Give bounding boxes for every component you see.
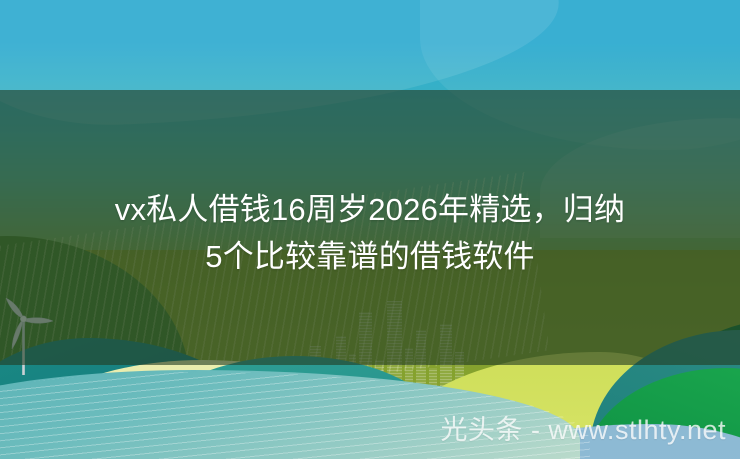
article-banner-image: vx私人借钱16周岁2026年精选，归纳 5个比较靠谱的借钱软件 光头条 - w… [0,0,740,459]
banner-headline: vx私人借钱16周岁2026年精选，归纳 5个比较靠谱的借钱软件 [0,186,740,280]
site-watermark: 光头条 - www.stlhty.net [440,415,726,445]
